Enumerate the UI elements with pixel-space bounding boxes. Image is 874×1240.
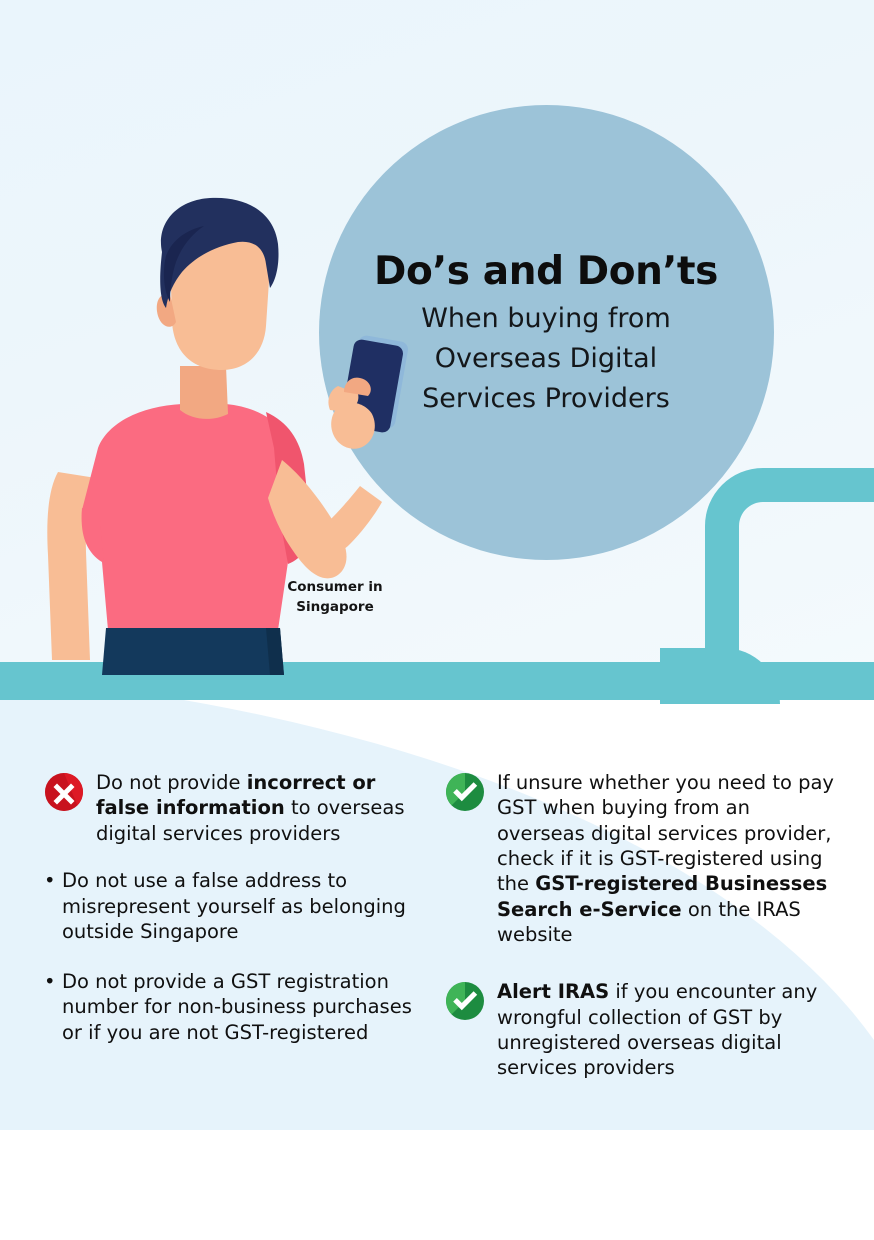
- dos-spacer: [445, 953, 840, 979]
- dont-main-text: Do not provide incorrect or false inform…: [96, 770, 434, 846]
- do-item-1-text: If unsure whether you need to pay GST wh…: [497, 770, 840, 947]
- dont-main-pre: Do not provide: [96, 771, 247, 794]
- do-item-2: Alert IRAS if you encounter any wrongful…: [445, 979, 840, 1080]
- consumer-caption: Consumer in Singapore: [255, 578, 415, 617]
- green-check-icon: [445, 772, 485, 816]
- dont-main-item: Do not provide incorrect or false inform…: [44, 770, 434, 846]
- subtitle-line-2: Overseas Digital: [330, 339, 762, 379]
- dont-bullet-2: Do not provide a GST registration number…: [44, 969, 434, 1046]
- subtitle-line-1: When buying from: [330, 299, 762, 339]
- headline-block: Do’s and Don’ts When buying from Oversea…: [330, 252, 762, 419]
- page-subtitle: When buying from Overseas Digital Servic…: [330, 299, 762, 419]
- donts-sublist: Do not use a false address to misreprese…: [44, 868, 434, 1045]
- donts-column: Do not provide incorrect or false inform…: [44, 770, 434, 1069]
- dont-bullet-1: Do not use a false address to misreprese…: [44, 868, 434, 945]
- tips-section: Do not provide incorrect or false inform…: [0, 770, 874, 1170]
- subtitle-line-3: Services Providers: [330, 379, 762, 419]
- dos-column: If unsure whether you need to pay GST wh…: [445, 770, 840, 1087]
- infographic-canvas: Consumer in Singapore Do’s and Don’ts Wh…: [0, 0, 874, 1240]
- do-item-1: If unsure whether you need to pay GST wh…: [445, 770, 840, 947]
- do2-bold: Alert IRAS: [497, 980, 609, 1003]
- caption-line-2: Singapore: [296, 599, 374, 615]
- page-title: Do’s and Don’ts: [330, 252, 762, 293]
- green-check-icon-2: [445, 981, 485, 1025]
- do-item-2-text: Alert IRAS if you encounter any wrongful…: [497, 979, 840, 1080]
- red-cross-icon: [44, 772, 84, 816]
- caption-line-1: Consumer in: [287, 579, 382, 595]
